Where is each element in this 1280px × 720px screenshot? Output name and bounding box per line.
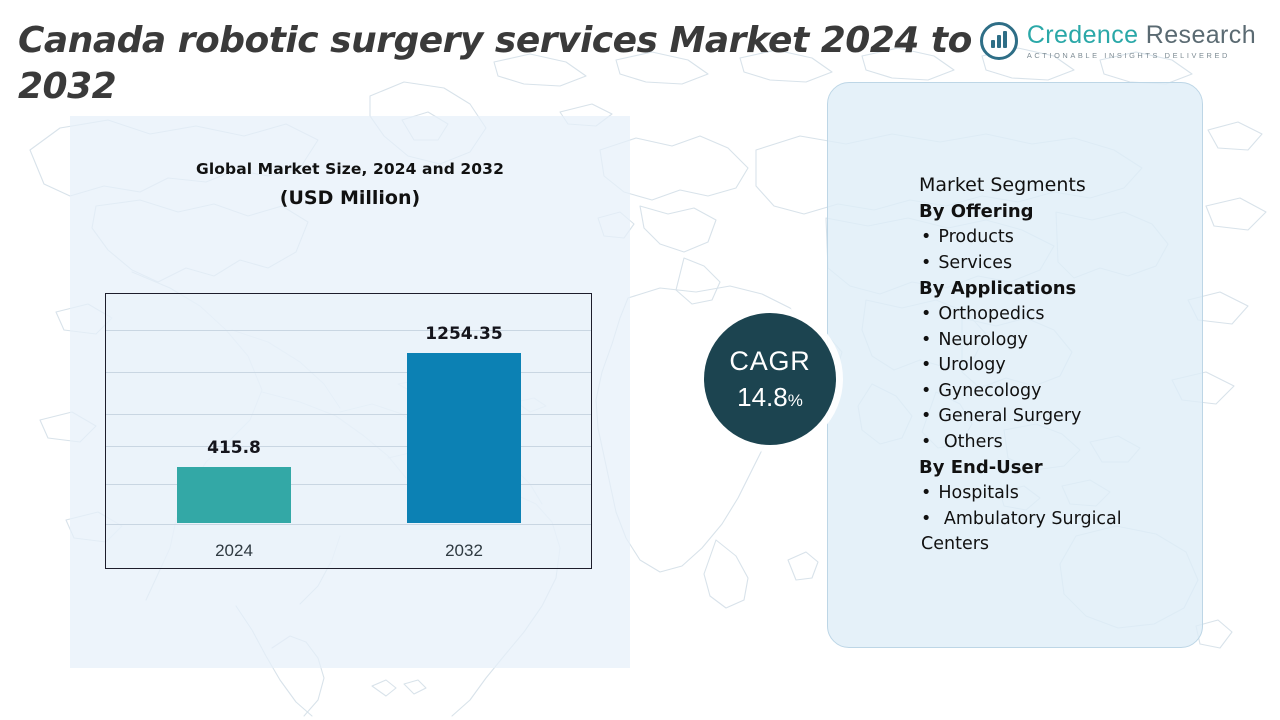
bar-chart-circle-icon xyxy=(980,22,1018,60)
bar-value-label-2032: 1254.35 xyxy=(425,324,502,344)
bar-2024: 415.8 2024 xyxy=(177,467,291,523)
segment-item-label: Products xyxy=(938,227,1014,247)
bar-category-label-2032: 2032 xyxy=(445,541,483,561)
segment-item-label: Gynecology xyxy=(938,381,1041,401)
bullet-icon: • xyxy=(921,381,931,401)
logo-tagline: Actionable Insights Delivered xyxy=(1027,52,1256,59)
segment-item-label: Orthopedics xyxy=(938,304,1044,324)
list-item: •Urology xyxy=(919,353,1185,379)
list-item: • Others xyxy=(919,430,1185,456)
infographic-canvas: Canada robotic surgery services Market 2… xyxy=(0,0,1280,720)
bullet-icon: • xyxy=(921,406,931,426)
list-item: •Hospitals xyxy=(919,481,1185,507)
segments-title: Market Segments xyxy=(919,172,1185,198)
list-item: •Services xyxy=(919,251,1185,277)
segment-item-label: Others xyxy=(938,432,1002,452)
bar-fill-2024 xyxy=(177,467,291,523)
bar-value-label-2024: 415.8 xyxy=(207,438,261,458)
chart-heading-line1: Global Market Size, 2024 and 2032 xyxy=(70,160,630,178)
bullet-icon: • xyxy=(921,432,931,452)
market-segments-list: Market Segments By Offering •Products •S… xyxy=(919,172,1185,558)
segment-item-label: Urology xyxy=(938,355,1005,375)
logo-text: Credence Research Actionable Insights De… xyxy=(1027,23,1256,59)
list-item: • Ambulatory Surgical Centers xyxy=(919,507,1185,558)
segment-item-label: Neurology xyxy=(938,330,1028,350)
bullet-icon: • xyxy=(921,509,931,529)
segment-item-label: Services xyxy=(938,253,1012,273)
bar-chart-plot-area: 415.8 2024 1254.35 2032 xyxy=(105,293,592,569)
logo-word-research: Research xyxy=(1146,21,1256,49)
bullet-icon: • xyxy=(921,253,931,273)
cagr-value: 14.8% xyxy=(737,384,803,410)
bullet-icon: • xyxy=(921,304,931,324)
bar-2032: 1254.35 2032 xyxy=(407,353,521,523)
segment-heading-offering: By Offering xyxy=(919,199,1185,225)
cagr-badge: CAGR 14.8% xyxy=(645,258,885,500)
bar-fill-2032 xyxy=(407,353,521,523)
list-item: •Gynecology xyxy=(919,379,1185,405)
logo-word-credence: Credence xyxy=(1027,21,1139,49)
chart-bars: 415.8 2024 1254.35 2032 xyxy=(106,294,591,568)
cagr-circle: CAGR 14.8% xyxy=(704,313,836,445)
bullet-icon: • xyxy=(921,227,931,247)
bullet-icon: • xyxy=(921,355,931,375)
bullet-icon: • xyxy=(921,483,931,503)
segment-item-label: General Surgery xyxy=(938,406,1081,426)
list-item: •Products xyxy=(919,225,1185,251)
chart-heading-line2: (USD Million) xyxy=(70,187,630,209)
segment-heading-end-user: By End-User xyxy=(919,455,1185,481)
page-title: Canada robotic surgery services Market 2… xyxy=(18,18,1018,110)
cagr-label: CAGR xyxy=(729,348,810,375)
segment-item-label: Hospitals xyxy=(938,483,1019,503)
cagr-number: 14.8 xyxy=(737,382,788,412)
list-item: •General Surgery xyxy=(919,404,1185,430)
cagr-unit: % xyxy=(788,391,803,410)
chart-heading: Global Market Size, 2024 and 2032 (USD M… xyxy=(70,160,630,209)
segment-item-label: Ambulatory Surgical Centers xyxy=(921,509,1122,555)
list-item: •Neurology xyxy=(919,328,1185,354)
bar-category-label-2024: 2024 xyxy=(215,541,253,561)
bullet-icon: • xyxy=(921,330,931,350)
segment-heading-applications: By Applications xyxy=(919,276,1185,302)
list-item: •Orthopedics xyxy=(919,302,1185,328)
credence-research-logo: Credence Research Actionable Insights De… xyxy=(980,22,1256,60)
